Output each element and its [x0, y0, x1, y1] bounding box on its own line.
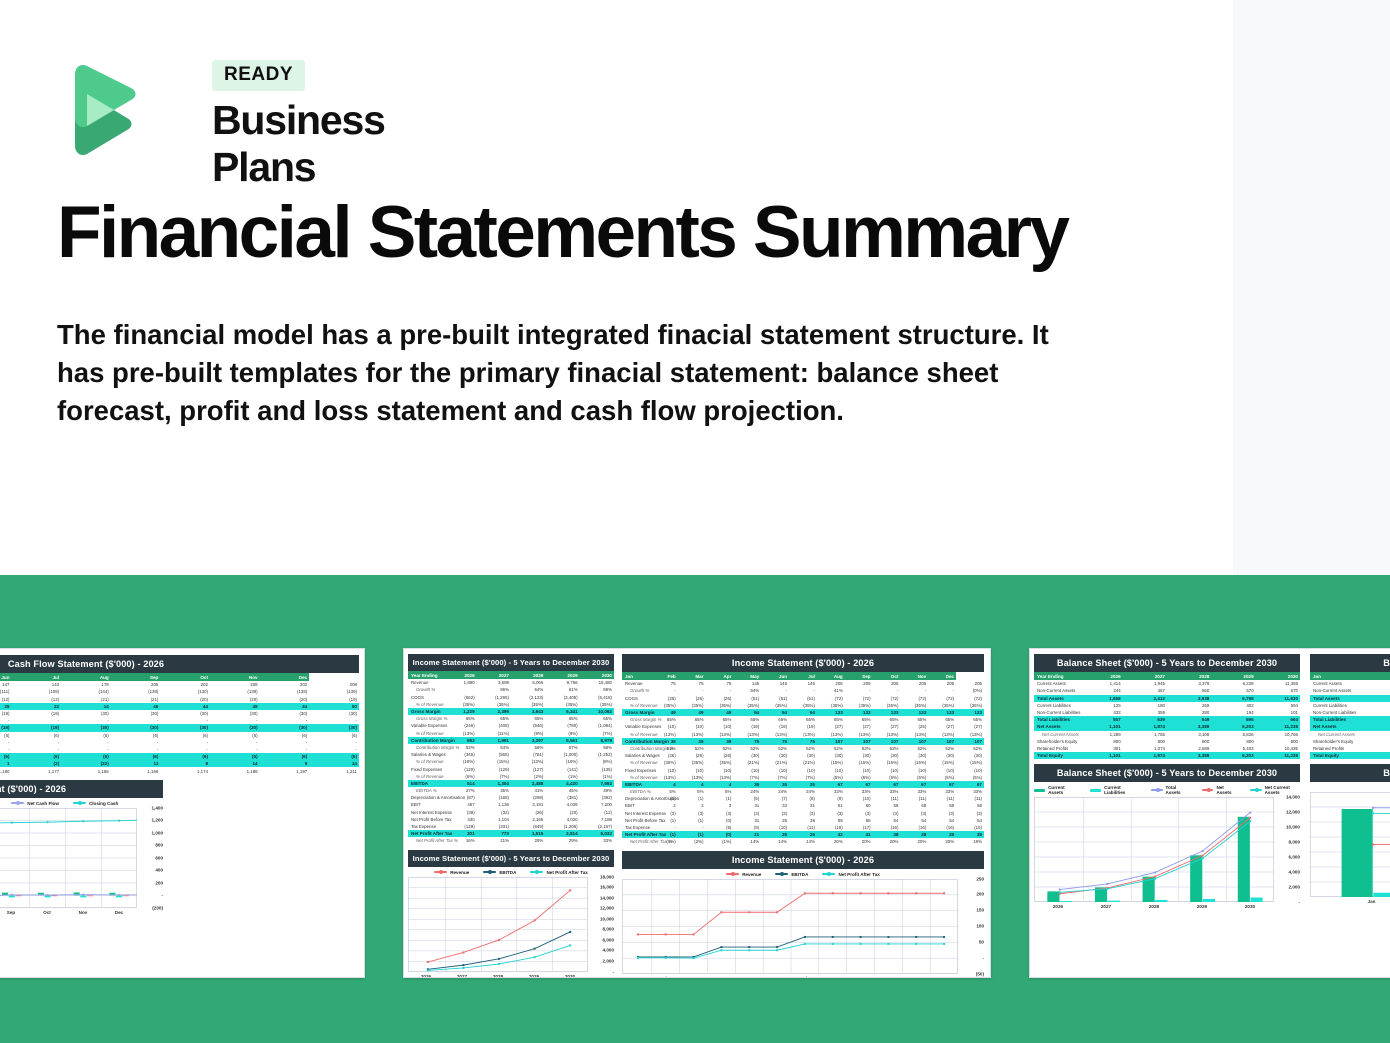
- cell: (13%): [789, 731, 817, 738]
- cell: -: [0, 746, 12, 753]
- cell: 59: [817, 817, 845, 824]
- cell: (10): [928, 766, 956, 773]
- cell: 1,180: [0, 767, 12, 774]
- cell: (3): [928, 810, 956, 817]
- y-axis-labels: 1,4001,2001,000800600400200-(200): [137, 808, 163, 908]
- column-header: Jul: [12, 673, 62, 681]
- cell: (35%): [545, 701, 579, 708]
- cell: 107: [900, 738, 928, 745]
- table-row: Financing Cash Flow(6)(6)(6)(6)(6)(6)(6)…: [0, 753, 359, 760]
- x-tick: Dec: [930, 976, 958, 979]
- cell: (10): [900, 766, 928, 773]
- cell: 6,203: [1211, 752, 1255, 759]
- cell: (72): [817, 695, 845, 702]
- y-tick: 14,000: [1286, 795, 1300, 800]
- chart-legend: RevenueEBITDANet Profit After Tax: [622, 869, 984, 879]
- cell: (30): [160, 710, 210, 717]
- cell: 54: [900, 817, 928, 824]
- cell: (32): [477, 809, 511, 816]
- cell: -: [210, 739, 260, 746]
- row-label: Net Interest Expense: [408, 809, 442, 816]
- cell: (26): [678, 695, 706, 702]
- table-row: Non-Current Assets244467560570570: [1034, 687, 1300, 694]
- cell: -: [789, 687, 817, 694]
- screenshot-panel-income[interactable]: Income Statement ($'000) - 5 Years to De…: [403, 648, 991, 978]
- cell: 9,756: [545, 679, 579, 686]
- cell: 41%: [511, 787, 545, 794]
- cell: -: [61, 746, 111, 753]
- column-header: Nov: [900, 672, 928, 680]
- column-header: May: [733, 672, 761, 680]
- cell: 96%: [477, 686, 511, 693]
- y-tick: 100: [976, 924, 984, 929]
- cell: (27): [873, 723, 901, 730]
- cell: -: [0, 739, 12, 746]
- row-label: Salaries & Wages: [408, 751, 442, 758]
- cell: (168): [477, 794, 511, 801]
- cell: 145: [733, 680, 761, 687]
- x-tick: Jan: [622, 976, 650, 979]
- cell: -: [160, 746, 210, 753]
- table-block: Balance Sheet ($'000) - 5 Years to Decem…: [1034, 654, 1300, 759]
- row-label: Depreciation & Amortisation: [408, 794, 442, 801]
- cell: 107: [845, 738, 873, 745]
- x-tick: 2029: [1178, 904, 1226, 909]
- table-row: % of Revenue(35%)(35%)(35%)(35%)(35%)(35…: [622, 702, 984, 709]
- cell: 205: [928, 680, 956, 687]
- right-tint-panel: [1233, 0, 1390, 575]
- cell: 10,062: [580, 708, 614, 715]
- table-row: % of Revenue(18%)(15%)(13%)(10%)(8%): [408, 758, 614, 765]
- cell: (129): [477, 765, 511, 772]
- cell: 22: [12, 703, 62, 710]
- cell: 1,174: [160, 767, 210, 774]
- cell: 3: [678, 802, 706, 809]
- cell: 52%: [900, 745, 928, 752]
- column-header: Mar: [678, 672, 706, 680]
- legend-item: EBITDA: [483, 870, 516, 875]
- table-row: Shareholder's Equity800800: [1310, 738, 1390, 745]
- cell: (13%): [900, 731, 928, 738]
- cell: (30): [111, 710, 161, 717]
- cell: (20): [210, 696, 260, 703]
- cell: 65%: [789, 716, 817, 723]
- chart-block: Balance Sheet ($'000) - 2026Current Asse…: [1310, 764, 1390, 904]
- cell: 143: [12, 681, 62, 688]
- cell: 14: [309, 760, 359, 767]
- table-row: Current Liabilities125180269402594: [1034, 702, 1300, 709]
- cell: 64%: [511, 686, 545, 693]
- cell: 14%: [761, 838, 789, 845]
- x-tick: Jun: [762, 976, 790, 979]
- legend-item: Net Profit After Tax: [822, 872, 879, 877]
- chart-block: Income Statement ($'000) - 2026RevenueEB…: [622, 851, 984, 979]
- cell: 800: [1123, 738, 1167, 745]
- cell: 1,156: [61, 767, 111, 774]
- row-label: Net Profit After Tax %: [622, 838, 650, 845]
- row-label: Current Assets: [1034, 680, 1078, 687]
- cell: (2,123): [511, 694, 545, 701]
- cell: 6,066: [511, 679, 545, 686]
- chart-plot: 1,4001,2001,000800600400200-(200): [0, 808, 163, 908]
- y-tick: 18,000: [600, 874, 614, 879]
- cell: (10): [845, 795, 873, 802]
- cell: 1,166: [111, 767, 161, 774]
- cell: 54%: [477, 744, 511, 751]
- cell: 5%: [678, 788, 706, 795]
- cell: (3): [678, 810, 706, 817]
- cell: (144): [61, 688, 111, 695]
- cell: (21%): [733, 759, 761, 766]
- row-label: Variable Expenses: [408, 722, 442, 729]
- column-header: 2027: [1123, 672, 1167, 680]
- legend-item: Net Profit After Tax: [530, 870, 587, 875]
- cell: 4: [706, 781, 734, 788]
- cell: (130): [160, 688, 210, 695]
- cell: (35%): [442, 701, 476, 708]
- cell: 94: [733, 709, 761, 716]
- cell: (9%): [511, 730, 545, 737]
- cell: (6): [260, 753, 310, 760]
- cell: (16): [873, 824, 901, 831]
- table-row: Contribution Margin9831,9913,3975,5618,9…: [408, 737, 614, 744]
- x-tick: Mar: [678, 976, 706, 979]
- table-row: EBITDA %27%35%41%45%49%: [408, 787, 614, 794]
- row-label: Net Current Assets: [1034, 731, 1078, 738]
- cell: 514: [442, 780, 476, 787]
- cell: 31: [733, 817, 761, 824]
- cell: (1): [678, 795, 706, 802]
- cell: 7,200: [580, 801, 614, 808]
- cell: 467: [442, 801, 476, 808]
- table-row: Net Cash Flow(23)(38)1(2)(22)11814914: [0, 760, 359, 767]
- x-tick: 2026: [1034, 904, 1082, 909]
- cell: 33%: [845, 788, 873, 795]
- table-block: Income Statement ($'000) - 2026JanFebMar…: [622, 654, 984, 846]
- cell: (5%): [956, 774, 984, 781]
- y-tick: 800: [155, 843, 163, 848]
- cell: 5,403: [1211, 745, 1255, 752]
- column-header: 2026: [1078, 672, 1122, 680]
- table-row: Current Assets1,4141,9453,3786,22811,359: [1034, 680, 1300, 687]
- cell: (26): [706, 695, 734, 702]
- column-header: Jan: [622, 672, 650, 680]
- cell: 10,435: [1256, 745, 1300, 752]
- legend-item: Net Cash Flow: [11, 801, 59, 806]
- screenshot-panel-balance[interactable]: Balance Sheet ($'000) - 5 Years to Decem…: [1029, 648, 1390, 978]
- brand-logo[interactable]: READY Business Plans: [57, 56, 477, 166]
- cell: 1,991: [477, 737, 511, 744]
- cell: (10%): [545, 758, 579, 765]
- cell: 19%: [956, 838, 984, 845]
- cell: 67: [873, 781, 901, 788]
- cell: 35: [761, 817, 789, 824]
- cell: 549: [1167, 716, 1211, 723]
- cell: (298): [511, 794, 545, 801]
- cell: (10): [873, 766, 901, 773]
- table-row: Shareholder's Equity800800800800800: [1034, 738, 1300, 745]
- column-header: 2029: [1211, 672, 1255, 680]
- cell: -: [260, 739, 310, 746]
- cell: 58: [928, 802, 956, 809]
- cell: 3,108: [1167, 731, 1211, 738]
- y-tick: 200: [976, 892, 984, 897]
- cell: 49: [678, 709, 706, 716]
- table-row: Dividends Paid----------: [0, 746, 359, 753]
- table-row: EBITDA %5%5%5%24%24%24%33%33%33%33%33%33…: [622, 788, 984, 795]
- x-tick: 2027: [444, 974, 480, 979]
- cell: (5): [733, 795, 761, 802]
- cell: (6): [61, 732, 111, 739]
- cell: (246): [442, 722, 476, 729]
- y-tick: 4,000: [603, 948, 615, 953]
- cell: 208: [309, 681, 359, 688]
- table-row: Net Interest Expense(3)(3)(3)(3)(3)(3)(3…: [622, 810, 984, 817]
- row-label: % of Revenue: [408, 701, 442, 708]
- cell: (15%): [477, 758, 511, 765]
- column-header: Oct: [873, 672, 901, 680]
- cell: (26): [650, 695, 678, 702]
- cell: 61: [817, 802, 845, 809]
- cell: 11,235: [1256, 723, 1300, 730]
- cell: 11,235: [1256, 752, 1300, 759]
- cell: 52%: [873, 745, 901, 752]
- cell: (19): [12, 710, 62, 717]
- column-header: Year Ending: [408, 671, 442, 679]
- table-title: Income Statement ($'000) - 5 Years to De…: [408, 654, 614, 671]
- cell: 11,359: [1256, 680, 1300, 687]
- table-row: Net Profit Before Tax(1)(1)(0)3135385958…: [622, 817, 984, 824]
- cell: 41: [845, 831, 873, 838]
- cell: 800: [1211, 738, 1255, 745]
- cell: 25: [761, 831, 789, 838]
- cell: 4,039: [545, 801, 579, 808]
- cell: (13%): [761, 731, 789, 738]
- row-label: Net Profit Before Tax: [408, 816, 442, 823]
- table-title: Balance Sheet ($'000) - 5 Years to Decem…: [1034, 654, 1300, 672]
- cell: 65%: [706, 716, 734, 723]
- cell: 560: [1167, 687, 1211, 694]
- cell: (72): [956, 695, 984, 702]
- y-tick: (50): [976, 971, 984, 976]
- cell: (35%): [511, 701, 545, 708]
- cell: (13%): [817, 731, 845, 738]
- table-row: Retained Profits(1)(2): [1310, 745, 1390, 752]
- cell: 402: [1211, 702, 1255, 709]
- cell: (3): [873, 810, 901, 817]
- cell: 33%: [580, 837, 614, 844]
- ready-badge: READY: [212, 60, 305, 91]
- cell: (3): [845, 810, 873, 817]
- cell: 2: [650, 802, 678, 809]
- cell: 32: [761, 802, 789, 809]
- cell: 570: [1256, 687, 1300, 694]
- screenshot-panel-cashflow[interactable]: Cash Flow Statement ($'000) - 2026AprMay…: [0, 648, 365, 978]
- cell: 244: [1078, 687, 1122, 694]
- column-header: Apr: [706, 672, 734, 680]
- table-row: Capital Expenditure(19)(19)(19)(19)(30)(…: [0, 710, 359, 717]
- table-row: % of Revenue(35%)(35%)(35%)(35%)(35%): [408, 701, 614, 708]
- cell: (5,418): [580, 694, 614, 701]
- chart-plot: [1310, 792, 1390, 897]
- cell: (10): [845, 766, 873, 773]
- cell: (27): [956, 723, 984, 730]
- cell: 58: [845, 817, 873, 824]
- cell: 35%: [477, 787, 511, 794]
- cell: 14: [210, 760, 260, 767]
- row-label: COGS: [408, 694, 442, 701]
- cell: 6,798: [1211, 695, 1255, 702]
- cell: 75: [789, 738, 817, 745]
- cell: (30): [61, 724, 111, 731]
- column-header: Jun: [0, 673, 12, 681]
- cell: 94: [761, 709, 789, 716]
- cell: 1,515: [511, 830, 545, 837]
- table-row: Gross Margin %65%65%65%65%65%: [408, 715, 614, 722]
- table-row: Salaries & Wages(345)(565)(781)(1,000)(1…: [408, 751, 614, 758]
- row-label: Growth %: [408, 686, 442, 693]
- table-row: Closing Cash1,2171,1791,1801,1771,1561,1…: [0, 767, 359, 774]
- table-row: Depreciation & Amortisation(1)(1)(1)(5)(…: [622, 795, 984, 802]
- cell: 2,191: [511, 801, 545, 808]
- x-tick: 2029: [516, 974, 552, 979]
- column-header: 2028: [1167, 672, 1211, 680]
- y-tick: (200): [152, 905, 163, 910]
- legend-item: Net Assets: [1202, 785, 1236, 795]
- cell: 52%: [928, 745, 956, 752]
- cell: (72): [873, 695, 901, 702]
- cell: (26): [678, 752, 706, 759]
- data-table: JanFebMarAprMayJunJulAugSepOctNovDecReve…: [622, 672, 984, 846]
- cell: 65%: [900, 716, 928, 723]
- table-row: Net Profit After Tax %(1%)(2%)(1%)14%14%…: [622, 838, 984, 845]
- cell: 2,399: [477, 708, 511, 715]
- legend-item: Closing Cash: [73, 801, 118, 806]
- cell: 1,765: [1123, 731, 1167, 738]
- cell: (35%): [706, 759, 734, 766]
- cell: 52%: [845, 745, 873, 752]
- table-row: Total Equity1,1011,8743,3896,20311,235: [1034, 752, 1300, 759]
- row-label: Non-Current Liabilities: [1310, 709, 1390, 716]
- table-row: Fixed Expenses(10)(10)(10)(10)(10)(10)(1…: [622, 766, 984, 773]
- cell: (13%): [706, 774, 734, 781]
- cell: (5%): [845, 774, 873, 781]
- column-header: 2030: [1256, 672, 1300, 680]
- cell: (15%): [845, 759, 873, 766]
- cell: -: [160, 717, 210, 724]
- cell: (6): [160, 753, 210, 760]
- cell: 52%: [678, 745, 706, 752]
- y-tick: 1,200: [152, 818, 164, 823]
- cell: (35%): [928, 702, 956, 709]
- cell: -: [111, 717, 161, 724]
- cell: 54: [956, 817, 984, 824]
- cell: 595: [1211, 716, 1255, 723]
- cell: (72): [928, 695, 956, 702]
- table-row: EBITDA5141,3042,4884,4207,592: [408, 780, 614, 787]
- cell: -: [650, 687, 678, 694]
- cell: 133: [817, 709, 845, 716]
- cell: (51): [789, 695, 817, 702]
- cell: 20%: [817, 838, 845, 845]
- row-label: EBIT: [408, 801, 442, 808]
- cell: 800: [1256, 738, 1300, 745]
- x-tick: Oct: [874, 976, 902, 979]
- cell: (15%): [873, 759, 901, 766]
- cell: 1,414: [1078, 680, 1122, 687]
- cell: 41%: [817, 687, 845, 694]
- cell: (2,157): [580, 823, 614, 830]
- cell: 14%: [733, 838, 761, 845]
- cell: 280: [1167, 709, 1211, 716]
- cell: (27): [928, 723, 956, 730]
- cell: (6): [12, 732, 62, 739]
- cell: 24%: [789, 788, 817, 795]
- y-tick: 1,400: [152, 805, 164, 810]
- table-block: Balance Sheet ($'000) - 2026JanFebCurren…: [1310, 654, 1390, 759]
- cell: 202: [260, 681, 310, 688]
- hero-section: READY Business Plans Financial Statement…: [0, 0, 1390, 575]
- cell: 1,074: [1123, 745, 1167, 752]
- cell: 56%: [511, 744, 545, 751]
- cell: -: [12, 746, 62, 753]
- cell: (0%): [956, 687, 984, 694]
- cell: 75: [733, 738, 761, 745]
- cell: 594: [1256, 702, 1300, 709]
- cell: 9: [260, 760, 310, 767]
- row-label: Salaries & Wages: [622, 752, 650, 759]
- cell: (1): [678, 817, 706, 824]
- table-title: Cash Flow Statement ($'000) - 2026: [0, 655, 359, 673]
- cell: (6): [210, 753, 260, 760]
- table-row: Total Assets1,6582,4123,9386,79811,930: [1034, 695, 1300, 702]
- table-row: Depreciation & Amortisation(87)(168)(298…: [408, 794, 614, 801]
- table-row: Interest & Tax Paid(3)(12)(12)(12)(21)(2…: [0, 696, 359, 703]
- column-header: Jul: [789, 672, 817, 680]
- cell: (5%): [817, 774, 845, 781]
- cell: 31: [733, 802, 761, 809]
- row-label: EBITDA %: [622, 788, 650, 795]
- cell: (30): [845, 752, 873, 759]
- cell: (3): [817, 810, 845, 817]
- cell: 35: [789, 781, 817, 788]
- cell: -: [678, 824, 706, 831]
- cell: (51): [733, 695, 761, 702]
- chart-plot: 25020015010050-(50): [622, 879, 984, 974]
- cell: (1%): [545, 773, 579, 780]
- column-header: Aug: [61, 673, 111, 681]
- cell: -: [160, 739, 210, 746]
- row-label: % of Revenue: [408, 758, 442, 765]
- cell: 25%: [511, 837, 545, 844]
- table-row: Net Current Assets1,2751,251: [1310, 731, 1390, 738]
- table-row: Variable Expenses(10)(10)(10)(19)(19)(19…: [622, 723, 984, 730]
- cell: 3,389: [1167, 752, 1211, 759]
- cell: (1): [678, 831, 706, 838]
- row-label: Contribution Margin: [622, 738, 650, 745]
- cell: 7,592: [580, 780, 614, 787]
- row-label: Total Liabilities: [1310, 716, 1390, 723]
- cell: (13%): [956, 731, 984, 738]
- cell: (12): [12, 696, 62, 703]
- cell: 107: [956, 738, 984, 745]
- x-tick: Nov: [65, 910, 101, 915]
- row-label: EBIT: [622, 802, 650, 809]
- y-axis-labels: 14,00012,00010,0008,0006,0004,0002,000-: [1274, 797, 1300, 902]
- column-header: 2026: [442, 671, 476, 679]
- cell: (25): [900, 723, 928, 730]
- cell: (10): [706, 723, 734, 730]
